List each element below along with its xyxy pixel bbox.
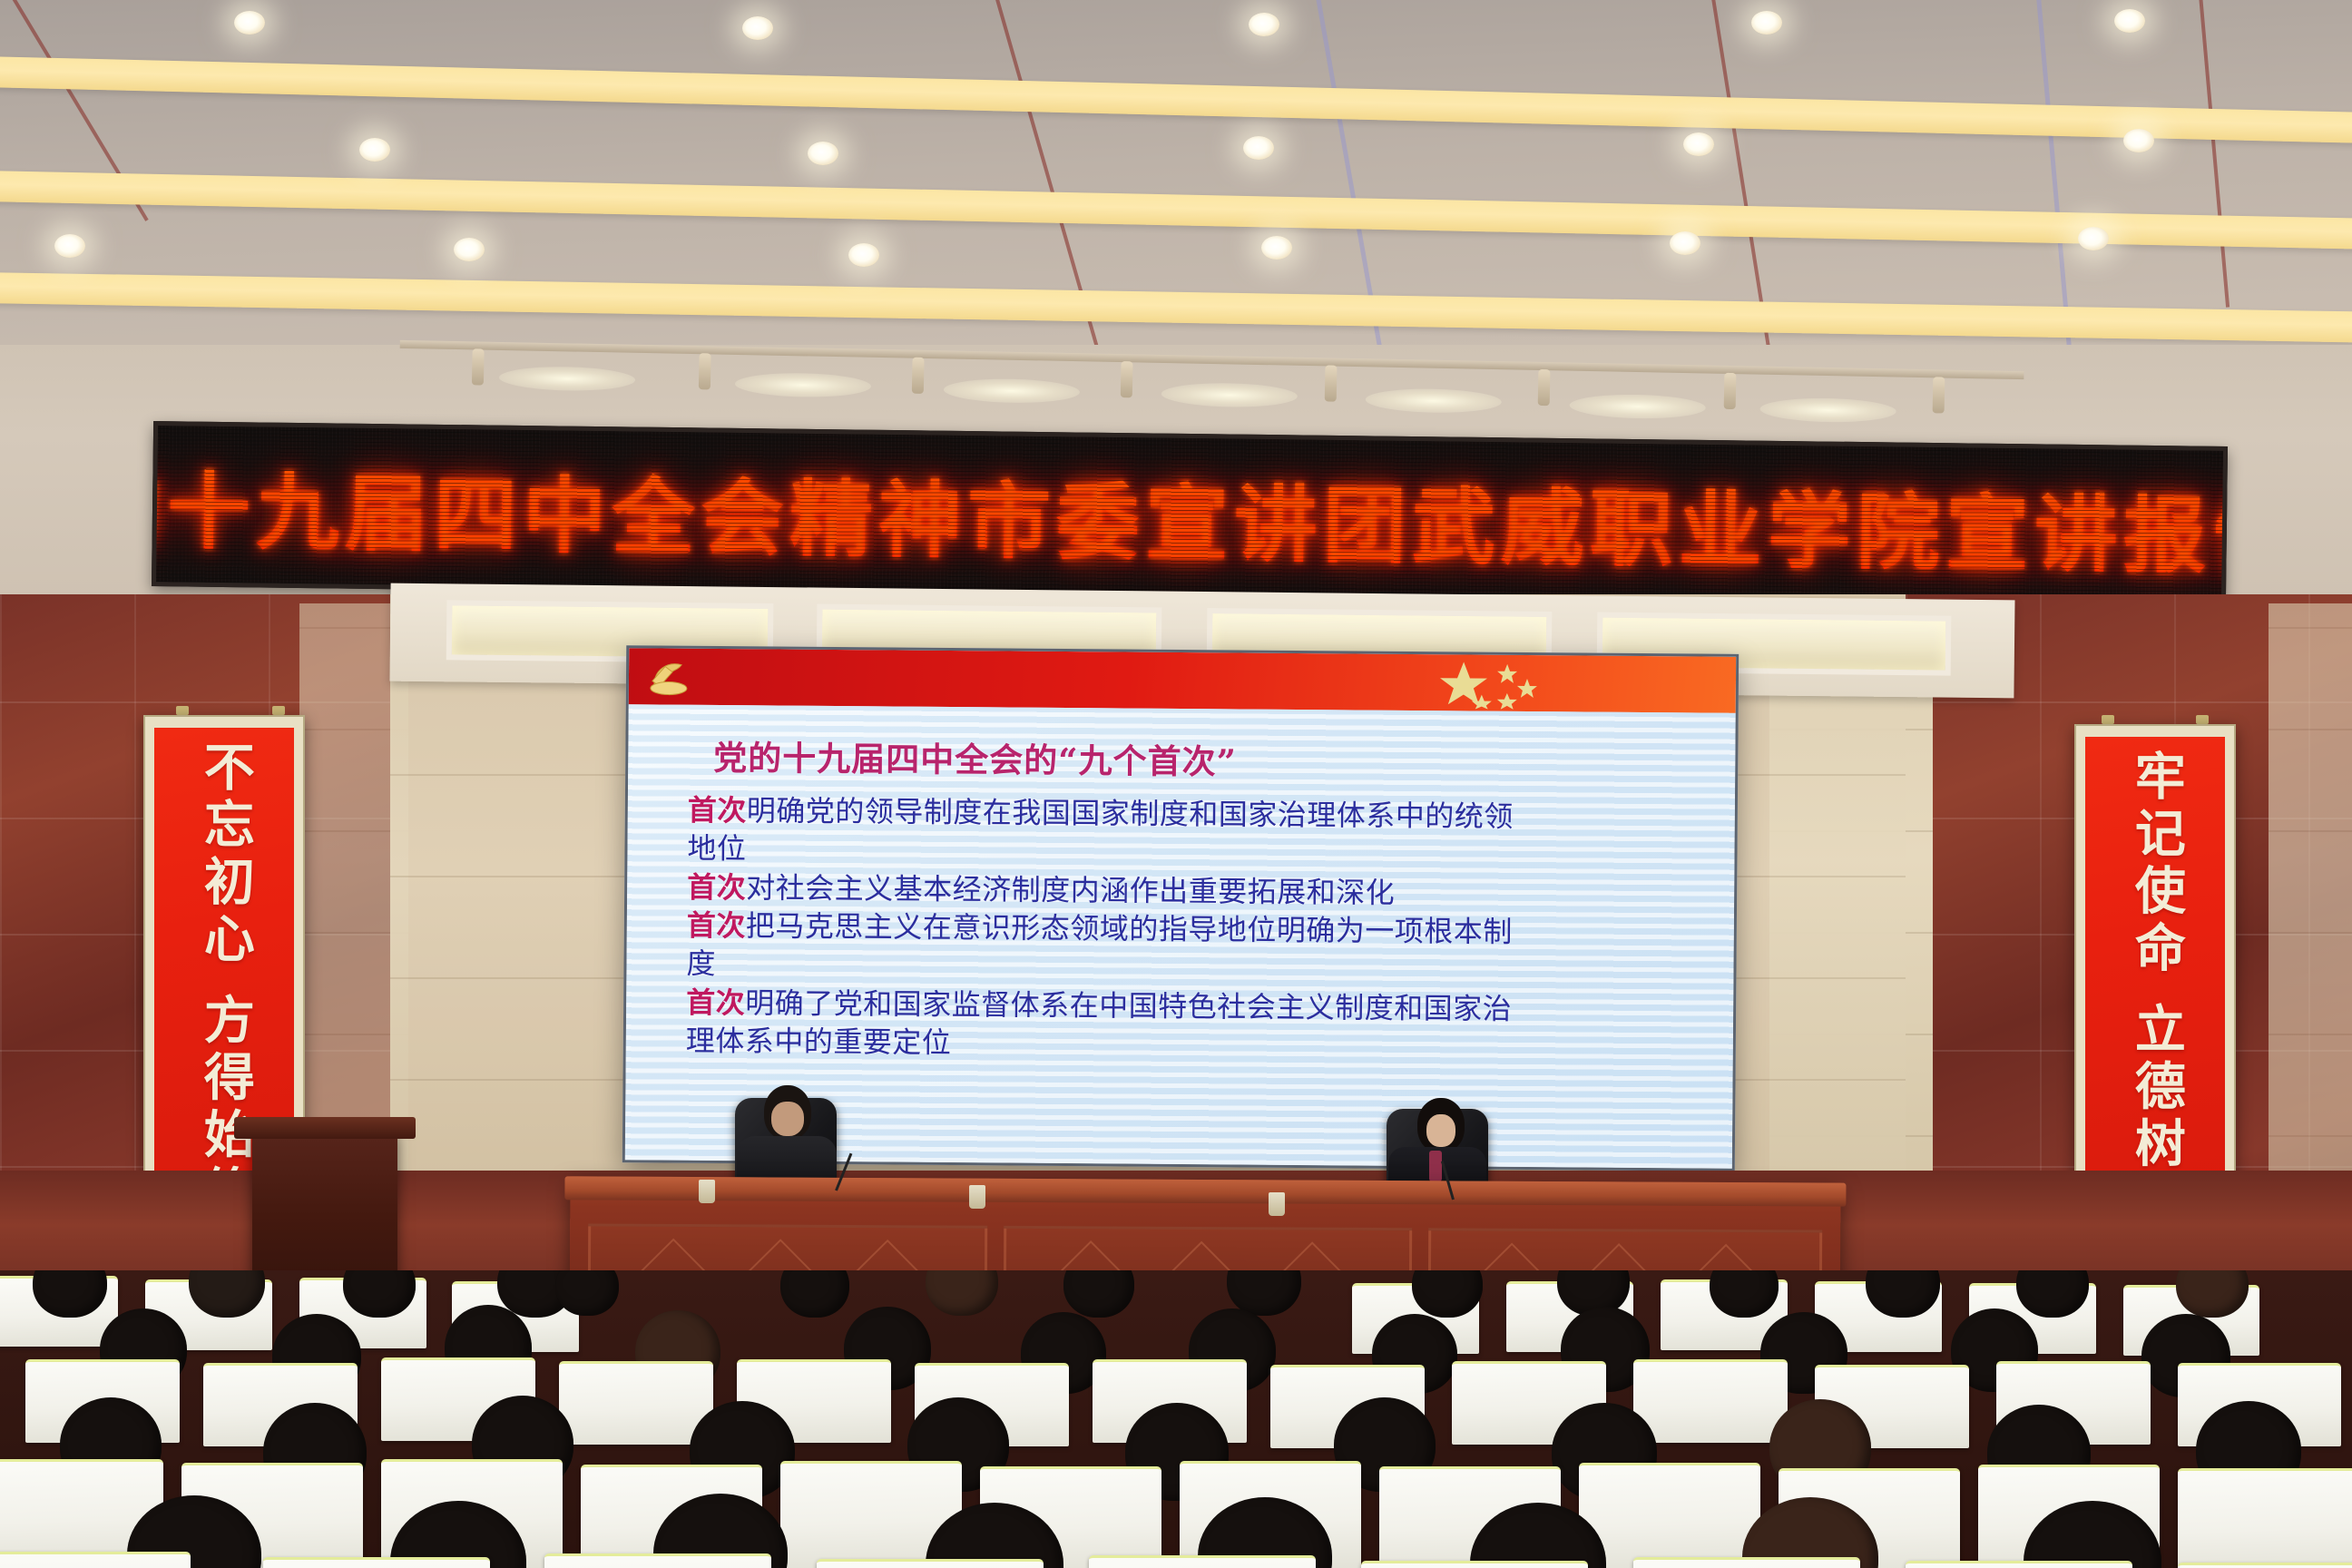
audience-seat xyxy=(1361,1561,1588,1568)
ceiling-downlight xyxy=(1670,231,1700,255)
audience-seat xyxy=(1089,1555,1316,1568)
audience-seat xyxy=(2178,1563,2352,1568)
ceiling-downlight xyxy=(234,11,265,34)
banner-hook xyxy=(176,706,189,715)
slide-paragraph: 首次把马克思主义在意识形态领域的指导地位明确为一项根本制 xyxy=(687,907,1703,952)
spotlight-glow xyxy=(499,366,635,392)
ceiling-downlight xyxy=(2123,129,2154,152)
slide-title: 党的十九届四中全会的“九个首次” xyxy=(713,730,1704,788)
audience-seat xyxy=(0,1552,191,1568)
ceiling-downlight xyxy=(2078,227,2109,250)
conference-hall-scene: 党的十九届四中全会精神市委宣讲团武威职业学院宣讲报告会 xyxy=(0,0,2352,1568)
water-cup xyxy=(969,1185,985,1209)
banner-left-text: 不忘初心 方得始终 xyxy=(196,740,253,1222)
slide-lead-word: 首次 xyxy=(688,793,747,828)
spotlight-glow xyxy=(1569,394,1705,420)
spotlight xyxy=(699,353,711,389)
audience-head xyxy=(555,1270,619,1316)
spotlight xyxy=(1933,377,1945,413)
ceiling-downlight xyxy=(454,238,485,261)
ceiling-downlight xyxy=(1751,11,1782,34)
audience-seat xyxy=(1906,1561,2132,1568)
male-speaker-face xyxy=(771,1102,804,1136)
spotlight-glow xyxy=(1161,382,1298,408)
party-emblem-hammer-sickle-icon xyxy=(645,653,701,701)
ceiling-beam xyxy=(0,272,2352,343)
spotlight xyxy=(1538,369,1551,406)
banner-hook xyxy=(2102,715,2114,724)
slide-paragraph-text: 对社会主义基本经济制度内涵作出重要拓展和深化 xyxy=(746,870,1395,910)
audience-seating xyxy=(0,1270,2352,1568)
spotlight-glow xyxy=(1759,397,1896,424)
ceiling-downlight xyxy=(742,16,773,40)
audience-seat xyxy=(544,1553,771,1568)
slide-lead-word: 首次 xyxy=(687,869,746,905)
banner-right-text: 牢记使命 立德树人 xyxy=(2127,750,2184,1231)
audience-seat xyxy=(817,1559,1044,1568)
ceiling-downlight xyxy=(1683,132,1714,156)
banner-hook xyxy=(2196,715,2209,724)
slide-paragraph-text: 把马克思主义在意识形态领域的指导地位明确为一项根本制 xyxy=(746,908,1513,949)
slide-paragraph-text: 明确了党和国家监督体系在中国特色社会主义制度和国家治 xyxy=(745,985,1512,1026)
ceiling-downlight xyxy=(808,142,838,165)
water-cup xyxy=(1269,1192,1285,1216)
lectern-top xyxy=(234,1117,416,1139)
slide-paragraph: 首次对社会主义基本经济制度内涵作出重要拓展和深化 xyxy=(687,868,1703,913)
spotlight-glow xyxy=(1366,387,1502,414)
female-speaker-face xyxy=(1426,1114,1455,1147)
led-banner-text: 党的十九届四中全会精神市委宣讲团武威职业学院宣讲报告会 xyxy=(152,441,2228,591)
led-panel: 党的十九届四中全会精神市委宣讲团武威职业学院宣讲报告会 xyxy=(156,426,2223,607)
slide-header-band xyxy=(629,648,1736,713)
banner-right-field: 牢记使命 立德树人 xyxy=(2085,737,2225,1238)
audience-seat xyxy=(559,1361,713,1445)
female-speaker-scarf xyxy=(1429,1151,1442,1181)
spotlight-glow xyxy=(944,377,1080,404)
water-cup xyxy=(699,1180,715,1203)
slide-paragraph: 理体系中的重要定位 xyxy=(686,1023,1702,1067)
ceiling-beam xyxy=(0,171,2352,250)
audience-seat xyxy=(263,1557,490,1568)
ceiling-beam xyxy=(0,56,2352,143)
spotlight xyxy=(912,358,925,394)
slide-paragraph-text: 明确党的领导制度在我国国家制度和国家治理体系中的统领 xyxy=(747,793,1514,834)
audience-seat xyxy=(1633,1557,1860,1568)
ceiling-downlight xyxy=(848,243,879,267)
ceiling-accent-line xyxy=(2196,0,2229,308)
audience-seat xyxy=(2178,1468,2352,1568)
ceiling-downlight xyxy=(2114,9,2145,33)
slide-paragraph: 度 xyxy=(686,946,1702,990)
slide-lead-word: 首次 xyxy=(687,908,746,944)
ceiling-downlight xyxy=(1249,13,1279,36)
slide-paragraph-text: 度 xyxy=(686,946,716,981)
spotlight xyxy=(1325,365,1338,401)
slide-paragraph: 地位 xyxy=(687,830,1703,875)
slide-paragraph: 首次明确党的领导制度在我国国家制度和国家治理体系中的统领 xyxy=(688,792,1704,837)
ceiling-downlight xyxy=(1243,136,1274,160)
audience-head xyxy=(780,1270,849,1318)
spotlight xyxy=(1121,361,1133,397)
wall-panel-far-right xyxy=(2269,603,2352,1239)
audience-head xyxy=(1063,1270,1134,1318)
slide-lead-word: 首次 xyxy=(686,985,745,1020)
slide-paragraph: 首次明确了党和国家监督体系在中国特色社会主义制度和国家治 xyxy=(686,984,1702,1028)
ceiling-downlight xyxy=(1261,236,1292,260)
spotlight-glow xyxy=(735,372,871,398)
ceiling-downlight xyxy=(54,234,85,258)
slide-paragraph-text: 理体系中的重要定位 xyxy=(686,1024,952,1060)
audience-seat xyxy=(1579,1463,1760,1568)
slide-paragraph-text: 地位 xyxy=(687,831,746,867)
spotlight xyxy=(472,348,485,385)
banner-hook xyxy=(272,706,285,715)
spotlight xyxy=(1724,373,1737,409)
china-flag-stars-icon xyxy=(1427,656,1600,710)
ceiling-downlight xyxy=(359,138,390,162)
audience-head xyxy=(926,1270,998,1316)
audience-seat xyxy=(1633,1359,1788,1443)
